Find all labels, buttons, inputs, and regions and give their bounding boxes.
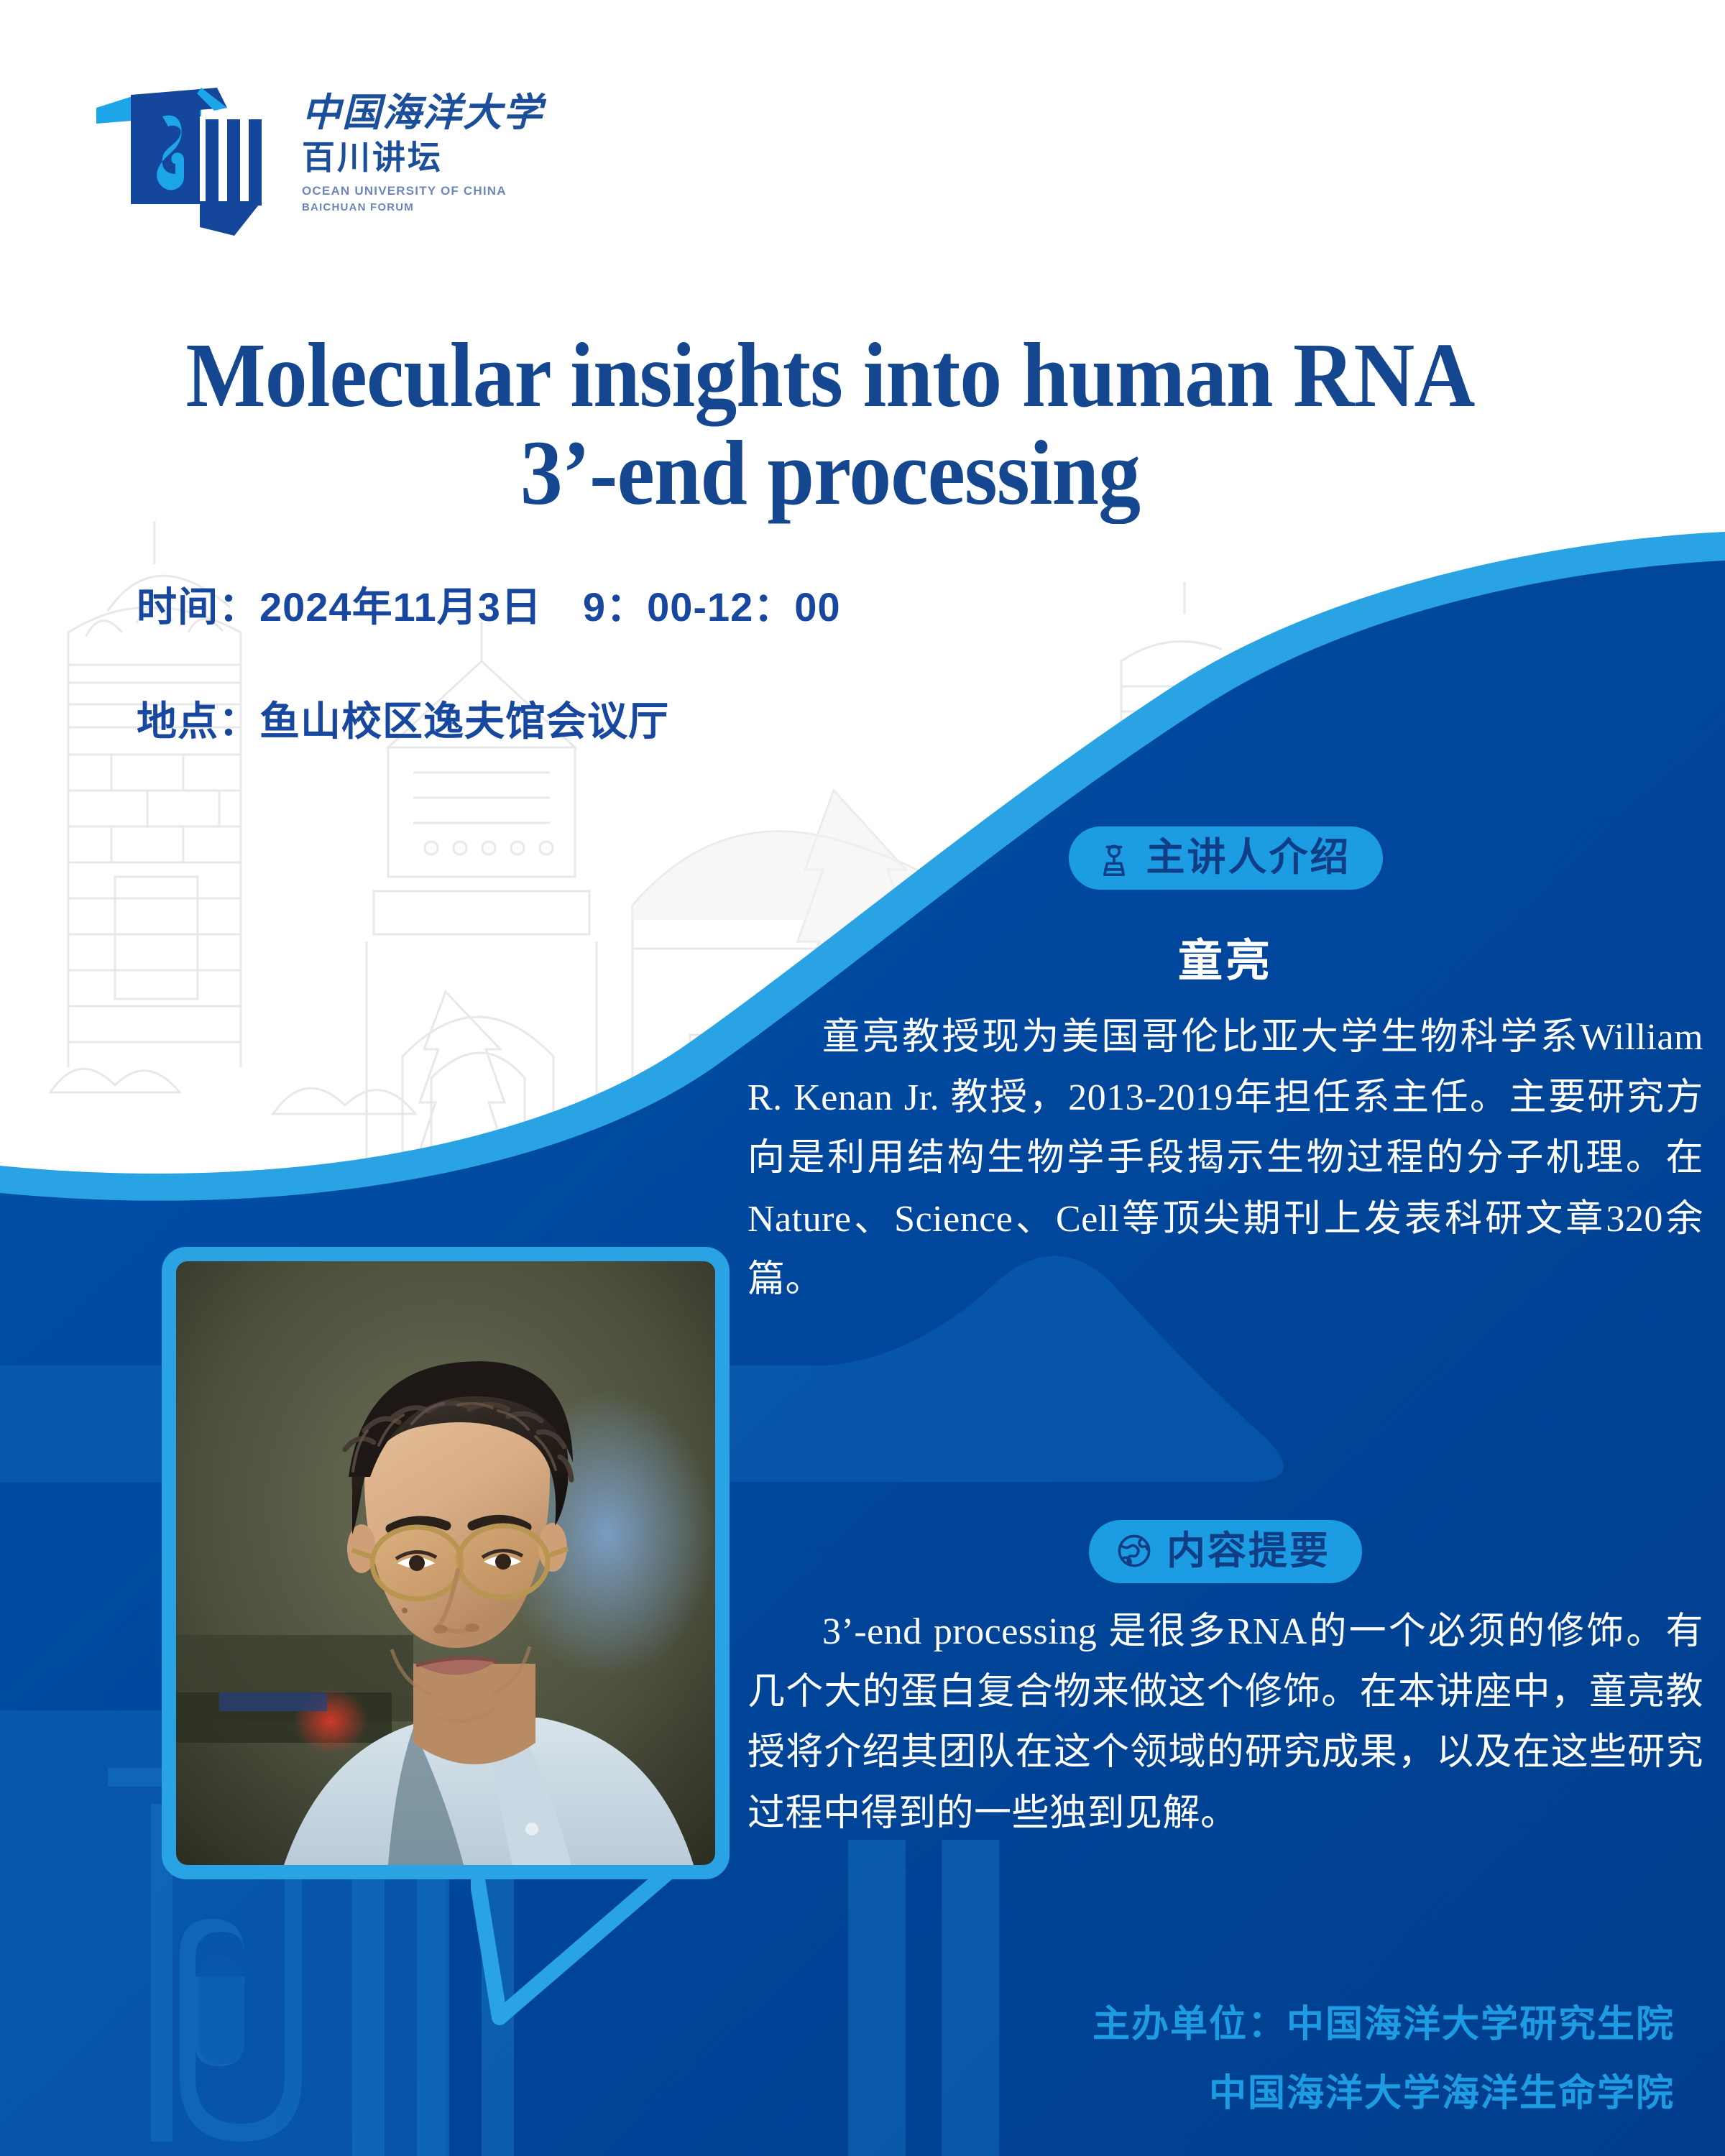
photo-frame (162, 1247, 730, 1879)
speaker-bio: 童亮教授现为美国哥伦比亚大学生物科学系William R. Kenan Jr. … (747, 1008, 1703, 1310)
title-line-2: 3’-end processing (66, 425, 1593, 522)
abstract-badge-label: 内容提要 (1167, 1531, 1330, 1570)
speaker-section: 主讲人介绍 童亮 童亮教授现为美国哥伦比亚大学生物科学系William R. K… (747, 826, 1703, 1310)
speaker-portrait (176, 1261, 715, 1865)
abstract-section: 内容提要 3’-end processing 是很多RNA的一个必须的修饰。有几… (747, 1520, 1703, 1844)
abstract-text: 3’-end processing 是很多RNA的一个必须的修饰。有几个大的蛋白… (747, 1602, 1703, 1844)
title-line-1: Molecular insights into human RNA (66, 327, 1593, 425)
speaker-intro-badge: 主讲人介绍 (1069, 826, 1383, 890)
organizer-footer: 主办单位：中国海洋大学研究生院 中国海洋大学海洋生命学院 (719, 1991, 1675, 2129)
bubble-tail (471, 1864, 686, 2029)
abstract-badge: 内容提要 (1089, 1520, 1362, 1583)
speaker-name: 童亮 (747, 924, 1703, 989)
organizer-line-2: 中国海洋大学海洋生命学院 (719, 2060, 1675, 2129)
logo-forum-cn: 百川讲坛 (302, 141, 561, 174)
globe-icon (1113, 1530, 1155, 1572)
event-time: 时间：2024年11月3日 9：00-12：00 (137, 575, 1071, 633)
organizer-line-1: 主办单位：中国海洋大学研究生院 (719, 1991, 1675, 2060)
poster-title: Molecular insights into human RNA 3’-end… (66, 327, 1593, 522)
speaker-photo-bubble (162, 1247, 730, 1879)
lecturer-icon (1093, 837, 1135, 878)
logo-university-en: OCEAN UNIVERSITY OF CHINA (302, 184, 561, 198)
logo-university-cn: 中国海洋大学 (302, 93, 561, 132)
baichuan-logo-icon (93, 79, 287, 237)
logo-forum-en: BAICHUAN FORUM (302, 201, 561, 213)
speaker-intro-badge-label: 主讲人介绍 (1146, 838, 1351, 877)
event-place: 地点：鱼山校区逸夫馆会议厅 (137, 689, 1071, 747)
brand-logo: 中国海洋大学 百川讲坛 OCEAN UNIVERSITY OF CHINA BA… (93, 79, 568, 237)
event-meta: 时间：2024年11月3日 9：00-12：00 地点：鱼山校区逸夫馆会议厅 (137, 575, 1071, 747)
poster-root: 中国海洋大学 百川讲坛 OCEAN UNIVERSITY OF CHINA BA… (0, 0, 1725, 2156)
